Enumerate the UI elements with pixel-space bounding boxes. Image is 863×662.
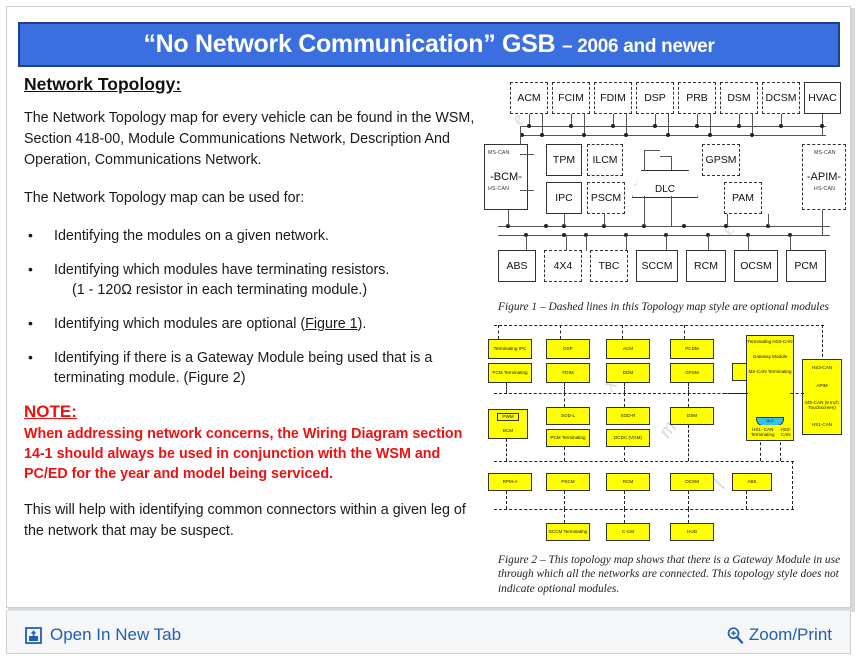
module-label: TBC <box>599 260 620 272</box>
module-label: PCM <box>794 260 817 272</box>
module-box: PCM <box>786 250 826 282</box>
bullet-text: Identifying the modules on a given netwo… <box>54 228 329 244</box>
module-label: HVAC <box>808 92 836 104</box>
module-box: ACM <box>510 82 548 114</box>
module-box: TPM <box>546 144 582 176</box>
module-box: SOD-R <box>606 407 650 425</box>
module-box: OCSM <box>734 250 778 282</box>
module-label: ILCM <box>592 154 617 166</box>
module-label: PRB <box>686 92 708 104</box>
open-in-new-tab-button[interactable]: Open In New Tab <box>25 625 181 645</box>
usage-bullet-list: Identifying the modules on a given netwo… <box>24 226 476 388</box>
open-in-new-tab-label: Open In New Tab <box>50 625 181 645</box>
figure-2-topology-map: x m l Terminating IPC DSP ACM PCDM PCM T… <box>484 321 846 546</box>
note-heading: NOTE: <box>24 402 476 422</box>
apim-module-box: HS3-CAN APIM MS-CAN (8 Inch Touchscreen)… <box>802 359 842 435</box>
module-box: PAM <box>724 182 762 214</box>
module-label: DCSM <box>766 92 797 104</box>
module-label: FCIM <box>558 92 584 104</box>
module-label: OCSM <box>685 479 699 484</box>
module-label: ABS <box>747 479 756 484</box>
module-box: PSCM <box>546 473 590 491</box>
bus-label-ms-can: MS-CAN <box>488 150 510 156</box>
module-label: GPSM <box>685 370 699 375</box>
module-box: TBC <box>590 250 628 282</box>
module-label: SOD-R <box>621 413 636 418</box>
dlc-connector: DLC <box>632 170 698 198</box>
module-label: DLC <box>766 419 773 423</box>
module-label: PCM Terminating <box>550 435 585 440</box>
module-label: BCM <box>503 428 513 433</box>
figure-1-topology-map: e p e ACM FCIM FDIM DSP PRB DSM DCSM HVA… <box>484 78 846 293</box>
module-box: ABS <box>498 250 536 282</box>
module-label: -APIM- <box>807 171 841 183</box>
module-box: FDIM <box>546 363 590 383</box>
hs-bus-2 <box>494 461 794 462</box>
module-box: FCIM <box>552 82 590 114</box>
module-box: PCM Terminating <box>488 363 532 383</box>
module-label: RCM <box>694 260 718 272</box>
bullet-text: Identifying which modules are optional ( <box>54 316 305 332</box>
module-box: OCSM <box>670 473 714 491</box>
module-box: DSM <box>720 82 758 114</box>
module-label: HUD <box>687 529 697 534</box>
module-label: SOD-L <box>561 413 575 418</box>
module-box: IPC <box>546 182 582 214</box>
module-box: PCDM <box>670 339 714 359</box>
module-label: PWM <box>497 413 518 420</box>
module-box: DSP <box>546 339 590 359</box>
module-box: DCDC (VGM) <box>606 429 650 447</box>
zoom-print-button[interactable]: Zoom/Print <box>726 625 832 645</box>
bus-label-ms-can: MS-CAN <box>814 150 836 156</box>
figure-1-reference[interactable]: Figure 1 <box>305 316 357 332</box>
module-label: RPM-A <box>503 479 518 484</box>
module-label: PSCM <box>561 479 574 484</box>
zoom-print-label: Zoom/Print <box>749 625 832 645</box>
apim-middle-label: MS-CAN (8 Inch Touchscreen) <box>803 400 841 411</box>
bcm-module-box: PWM BCM <box>488 409 528 439</box>
module-label: DSM <box>727 92 750 104</box>
gateway-name-label: Gateway Module <box>753 354 787 359</box>
apim-name-label: APIM <box>816 383 827 388</box>
module-label: SCCM Terminating <box>549 529 587 534</box>
module-box: PSCM <box>587 182 625 214</box>
list-item: Identifying which modules are optional (… <box>24 314 476 334</box>
module-box: RCM <box>686 250 726 282</box>
title-banner: “No Network Communication” GSB – 2006 an… <box>18 22 840 67</box>
list-item: Identifying if there is a Gateway Module… <box>24 348 476 388</box>
module-box: DCSM <box>762 82 800 114</box>
left-content-column: Network Topology: The Network Topology m… <box>24 74 476 559</box>
paragraph-3: This will help with identifying common c… <box>24 500 476 542</box>
module-box: SCCM <box>636 250 678 282</box>
hs-can-bus <box>520 135 826 136</box>
module-box: GPSM <box>702 144 740 176</box>
module-label: DCDC (VGM) <box>614 435 642 440</box>
note-body: When addressing network concerns, the Wi… <box>24 424 476 484</box>
footer-bar: Open In New Tab Zoom/Print <box>6 610 851 654</box>
module-box: GPSM <box>670 363 714 383</box>
module-box: SCCM Terminating <box>546 523 590 541</box>
module-box: RCM <box>606 473 650 491</box>
module-label: ABS <box>506 260 527 272</box>
open-in-new-tab-icon <box>25 627 42 644</box>
module-box: FDIM <box>594 82 632 114</box>
module-label: FDIM <box>562 370 573 375</box>
watermark-text: e <box>716 219 740 239</box>
module-box: ACM <box>606 339 650 359</box>
list-item: Identifying which modules have terminati… <box>24 260 476 300</box>
module-label: ACM <box>623 346 633 351</box>
bullet-text: Identifying if there is a Gateway Module… <box>54 350 432 386</box>
module-box: SOD-L <box>546 407 590 425</box>
module-label: TPM <box>553 154 575 166</box>
module-label: C-CM <box>622 529 634 534</box>
module-label: Terminating IPC <box>494 346 527 351</box>
module-label: DSM <box>687 413 697 418</box>
section-heading: Network Topology: <box>24 74 476 95</box>
apim-bottom-label: HS1-CAN <box>812 422 832 427</box>
module-box: PRB <box>678 82 716 114</box>
hs-bus-3 <box>494 509 794 510</box>
banner-title-sub: – 2006 and newer <box>562 36 715 57</box>
module-box: PCM Terminating <box>546 429 590 447</box>
bullet-subtext: (1 - 120Ω resistor in each terminating m… <box>54 280 476 300</box>
module-box: C-CM <box>606 523 650 541</box>
module-label: SCCM <box>642 260 673 272</box>
bullet-text: Identifying which modules have terminati… <box>54 262 389 278</box>
hs1-can-label: HS1- CAN Terminating <box>747 427 778 438</box>
slide-page: “No Network Communication” GSB – 2006 an… <box>0 0 863 662</box>
module-label: PSCM <box>591 192 621 204</box>
module-box: DSP <box>636 82 674 114</box>
module-box: DSM <box>670 407 714 425</box>
module-label: DSP <box>563 346 572 351</box>
module-box: 4X4 <box>544 250 582 282</box>
module-label: -BCM- <box>490 171 522 183</box>
gateway-bottom-labels: HS1- CAN Terminating HS2- CAN <box>746 425 794 441</box>
module-label: DSP <box>644 92 666 104</box>
module-box: HUD <box>670 523 714 541</box>
module-label: 4X4 <box>554 260 573 272</box>
module-box: ILCM <box>587 144 623 176</box>
banner-text: “No Network Communication” GSB – 2006 an… <box>143 30 714 59</box>
module-label: ACM <box>517 92 540 104</box>
module-box: DDM <box>606 363 650 383</box>
figure-1-caption: Figure 1 – Dashed lines in this Topology… <box>498 300 846 315</box>
module-box: ABS <box>732 473 772 491</box>
module-label: GPSM <box>706 154 737 166</box>
module-label: PCM Terminating <box>492 370 527 375</box>
figure-2-caption: Figure 2 – This topology map shows that … <box>498 553 846 597</box>
bus-label-hs-can: HS-CAN <box>488 186 509 192</box>
zoom-in-icon <box>726 626 744 644</box>
apim-top-label: HS3-CAN <box>812 365 832 370</box>
bus-label-hs-can: HS-CAN <box>814 186 835 192</box>
paragraph-1: The Network Topology map for every vehic… <box>24 108 476 171</box>
module-label: FDIM <box>600 92 626 104</box>
module-box: Terminating IPC <box>488 339 532 359</box>
module-label: IPC <box>555 192 573 204</box>
module-label: DDM <box>623 370 633 375</box>
module-label: OCSM <box>740 260 772 272</box>
module-box: RPM-A <box>488 473 532 491</box>
module-label: PCDM <box>685 346 699 351</box>
banner-title-main: “No Network Communication” GSB <box>143 30 555 58</box>
list-item: Identifying the modules on a given netwo… <box>24 226 476 246</box>
right-figures-column: e p e ACM FCIM FDIM DSP PRB DSM DCSM HVA… <box>484 78 846 596</box>
hs2-can-label: HS2- CAN <box>778 427 793 438</box>
module-label: PAM <box>732 192 754 204</box>
gateway-top-label: Terminating HS3-CAN <box>747 339 792 344</box>
gateway-lower-label: MS-CAN Terminating <box>748 369 791 374</box>
module-box: HVAC <box>804 82 841 114</box>
module-label: RCM <box>623 479 633 484</box>
bullet-text-tail: ). <box>358 316 367 332</box>
paragraph-2: The Network Topology map can be used for… <box>24 188 476 209</box>
